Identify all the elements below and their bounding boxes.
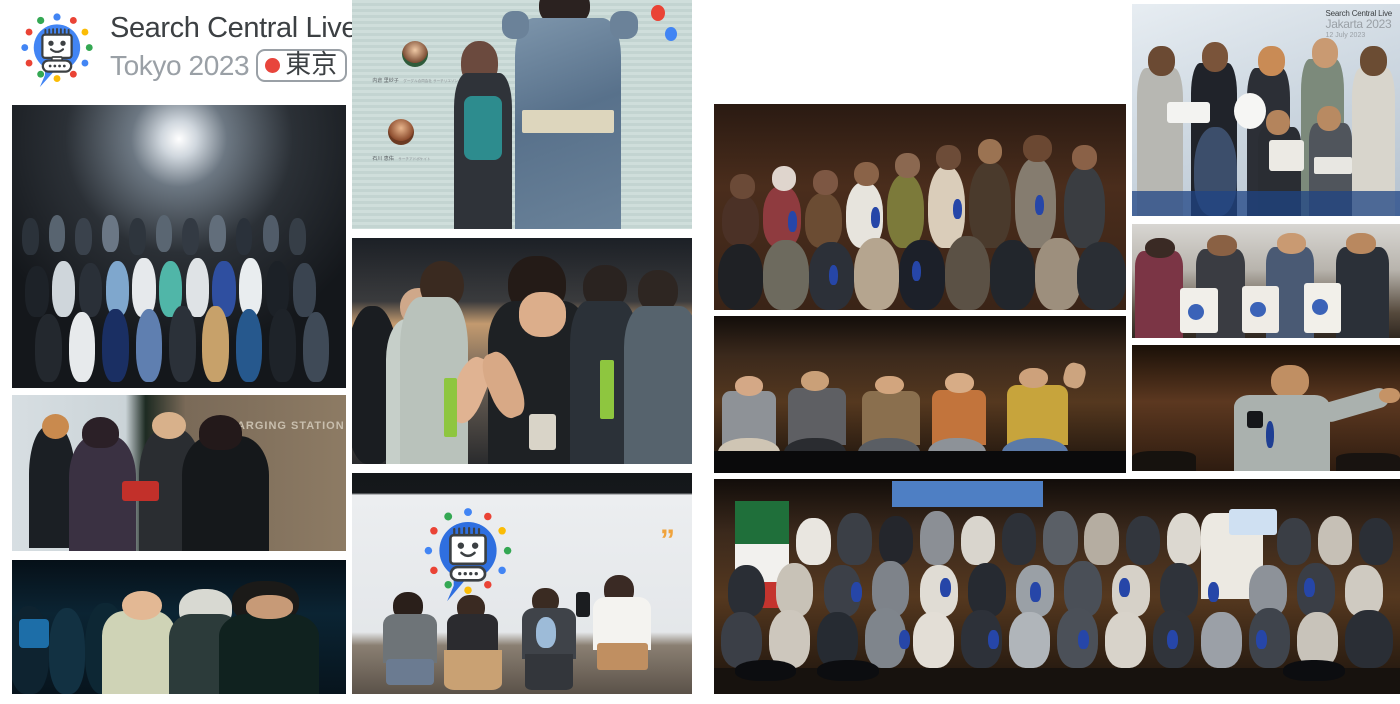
tokyo-subtitle-text: Tokyo 2023 xyxy=(110,52,249,80)
photo-jakarta-audience-cheering xyxy=(714,104,1126,310)
jakarta-event-section: Search Central Live Jakarta 2023 xyxy=(700,0,1400,704)
panel-speakers xyxy=(352,473,692,694)
photo-tokyo-audience-wide xyxy=(12,105,346,388)
tokyo-city-badge: 東京 xyxy=(256,49,347,82)
crowd-figures xyxy=(1132,4,1400,216)
photo-jakarta-panel-sofas xyxy=(714,316,1126,473)
tokyo-event-subtitle: Tokyo 2023 東京 xyxy=(110,49,357,82)
crowd-figures xyxy=(714,104,1126,310)
crowd-figures xyxy=(12,105,346,388)
crowd-figures xyxy=(12,560,346,694)
search-central-mascot-icon xyxy=(14,8,100,99)
photo-tokyo-panel-stage: ” xyxy=(352,473,692,694)
photo-tokyo-badge-handover: CHARGING STATION xyxy=(12,395,346,551)
japan-flag-icon xyxy=(265,58,280,73)
tokyo-title-block: Search Central Live Tokyo 2023 東京 xyxy=(110,8,357,82)
tokyo-logo-lockup: Search Central Live Tokyo 2023 東京 xyxy=(14,8,357,99)
tokyo-brand-title: Search Central Live xyxy=(110,14,357,43)
photo-jakarta-photobooth: Search Central Live Jakarta 2023 12 July… xyxy=(1132,4,1400,216)
tokyo-event-section: Search Central Live Tokyo 2023 東京 xyxy=(0,0,700,704)
crowd-figures xyxy=(352,238,692,464)
photo-tokyo-networking-drinks xyxy=(12,560,346,694)
tokyo-badge-label: 東京 xyxy=(285,52,337,78)
speaker-figure xyxy=(1132,345,1400,471)
photo-tokyo-yukata-stage: 内倉 里紗子 グーグル合同会社 サーチリエゾン 石川 恵佑 サーチアドボケイト xyxy=(352,0,692,229)
crowd-figures xyxy=(1132,224,1400,338)
photo-tokyo-heart-hands xyxy=(352,238,692,464)
photo-jakarta-group-photo xyxy=(714,479,1400,694)
photo-jakarta-speaker-pointing xyxy=(1132,345,1400,471)
crowd-figures xyxy=(12,395,346,551)
stage-people xyxy=(352,0,692,229)
photo-jakarta-tote-bags xyxy=(1132,224,1400,338)
crowd-figures xyxy=(714,479,1400,694)
photo-collage: Search Central Live Tokyo 2023 東京 xyxy=(0,0,1400,704)
panel-speakers xyxy=(714,316,1126,473)
